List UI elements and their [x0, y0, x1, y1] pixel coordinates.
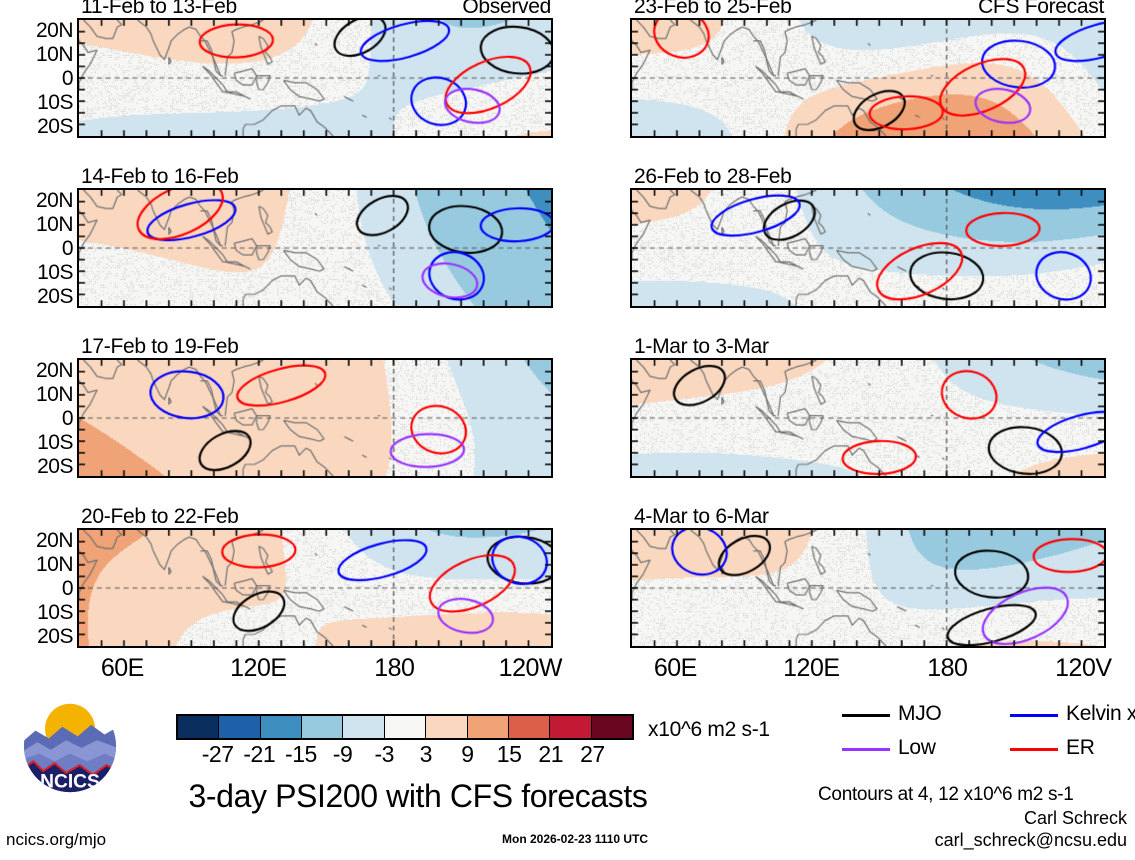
colorbar-swatch-3: [302, 716, 343, 738]
contour-legend: MJOKelvin x2LowER: [842, 702, 1132, 766]
map-frame: [630, 358, 1106, 478]
contour-note: Contours at 4, 12 x10^6 m2 s-1: [818, 784, 1074, 806]
x-tick-label: 180: [927, 654, 967, 683]
legend-label: MJO: [898, 702, 941, 726]
figure-footer: NCICS -27-21-15-9-339152127 x10^6 m2 s-1…: [0, 690, 1135, 860]
y-axis-labels: 20N10N010S20S: [15, 518, 73, 658]
main-title: 3-day PSI200 with CFS forecasts: [168, 778, 668, 815]
map-field-canvas: [79, 530, 551, 646]
map-field-canvas: [632, 530, 1104, 646]
colorbar-swatch-6: [426, 716, 467, 738]
site-url[interactable]: ncics.org/mjo: [6, 830, 106, 850]
panel-column-header: Observed: [462, 0, 551, 19]
y-tick-label: 20S: [37, 456, 73, 477]
y-tick-label: 0: [62, 68, 73, 89]
map-field-canvas: [632, 360, 1104, 476]
panel-column-header: CFS Forecast: [978, 0, 1104, 19]
map-frame: [630, 528, 1106, 648]
x-tick-label: 180: [374, 654, 414, 683]
map-frame: [77, 18, 553, 138]
colorbar-swatch-5: [385, 716, 426, 738]
ncics-logo: NCICS: [22, 698, 118, 794]
panel-title: 17-Feb to 19-Feb: [81, 335, 238, 359]
y-tick-label: 20S: [37, 116, 73, 137]
legend-line-swatch: [1010, 714, 1058, 717]
y-tick-label: 20N: [36, 20, 73, 41]
y-tick-label: 20N: [36, 360, 73, 381]
map-field-canvas: [79, 190, 551, 306]
map-panel-5: 23-Feb to 25-FebCFS Forecast: [630, 18, 1106, 138]
colorbar-tick-label: 27: [580, 741, 605, 768]
y-axis-labels: 20N10N010S20S: [15, 348, 73, 488]
y-tick-label: 0: [62, 578, 73, 599]
panel-title: 26-Feb to 28-Feb: [634, 165, 791, 189]
panel-title: 4-Mar to 6-Mar: [634, 505, 769, 529]
x-tick-label: 60E: [101, 654, 144, 683]
y-axis-labels: 20N10N010S20S: [15, 8, 73, 148]
map-frame: [77, 528, 553, 648]
colorbar-swatch-0: [178, 716, 219, 738]
y-tick-label: 10S: [37, 602, 73, 623]
author-name: Carl Schreck: [1024, 808, 1127, 829]
colorbar-swatch-10: [592, 716, 632, 738]
colorbar-tick-label: -3: [374, 741, 393, 768]
x-axis-labels: 60E120E180120V: [630, 654, 1106, 684]
map-field-canvas: [632, 20, 1104, 136]
map-panel-1: 11-Feb to 13-FebObserved20N10N010S20S: [77, 18, 553, 138]
map-field-canvas: [79, 20, 551, 136]
x-tick-label: 120V: [1055, 654, 1111, 683]
panel-title: 1-Mar to 3-Mar: [634, 335, 769, 359]
panel-title: 23-Feb to 25-Feb: [634, 0, 791, 19]
map-frame: [630, 188, 1106, 308]
y-tick-label: 10N: [36, 554, 73, 575]
colorbar-tick-labels: -27-21-15-9-339152127: [176, 741, 634, 767]
colorbar-tick-label: 15: [497, 741, 522, 768]
map-panel-2: 14-Feb to 16-Feb20N10N010S20S: [77, 188, 553, 308]
y-tick-label: 20S: [37, 626, 73, 647]
colorbar: -27-21-15-9-339152127: [176, 714, 634, 740]
map-frame: [77, 188, 553, 308]
author-email: carl_schreck@ncsu.edu: [935, 830, 1127, 851]
map-panel-4: 20-Feb to 22-Feb20N10N010S20S60E120E1801…: [77, 528, 553, 648]
colorbar-swatch-2: [261, 716, 302, 738]
legend-label: Low: [898, 736, 936, 760]
map-panel-6: 26-Feb to 28-Feb: [630, 188, 1106, 308]
panel-grid: 11-Feb to 13-FebObserved20N10N010S20S14-…: [0, 0, 1135, 690]
y-tick-label: 10N: [36, 44, 73, 65]
x-tick-label: 120E: [230, 654, 286, 683]
colorbar-swatches: [176, 714, 634, 740]
y-tick-label: 10S: [37, 432, 73, 453]
panel-title: 11-Feb to 13-Feb: [81, 0, 237, 19]
x-tick-label: 60E: [654, 654, 697, 683]
colorbar-tick-label: 3: [420, 741, 432, 768]
legend-line-swatch: [1010, 748, 1058, 751]
colorbar-swatch-1: [219, 716, 260, 738]
y-tick-label: 10N: [36, 384, 73, 405]
colorbar-swatch-4: [343, 716, 384, 738]
y-tick-label: 0: [62, 238, 73, 259]
x-axis-labels: 60E120E180120W: [77, 654, 553, 684]
colorbar-tick-label: 9: [461, 741, 473, 768]
colorbar-tick-label: -15: [285, 741, 317, 768]
y-tick-label: 10S: [37, 92, 73, 113]
colorbar-units-label: x10^6 m2 s-1: [648, 718, 770, 742]
y-tick-label: 10N: [36, 214, 73, 235]
colorbar-swatch-7: [468, 716, 509, 738]
map-frame: [630, 18, 1106, 138]
timestamp: Mon 2026-02-23 1110 UTC: [502, 832, 648, 846]
colorbar-swatch-8: [509, 716, 550, 738]
y-tick-label: 20S: [37, 286, 73, 307]
ncics-logo-text: NCICS: [40, 771, 100, 792]
y-tick-label: 10S: [37, 262, 73, 283]
map-frame: [77, 358, 553, 478]
colorbar-tick-label: -9: [333, 741, 352, 768]
y-tick-label: 20N: [36, 530, 73, 551]
panel-title: 20-Feb to 22-Feb: [81, 505, 238, 529]
panel-title: 14-Feb to 16-Feb: [81, 165, 238, 189]
map-field-canvas: [632, 190, 1104, 306]
map-panel-8: 4-Mar to 6-Mar60E120E180120V: [630, 528, 1106, 648]
map-field-canvas: [79, 360, 551, 476]
y-tick-label: 0: [62, 408, 73, 429]
legend-label: Kelvin x2: [1066, 702, 1135, 726]
legend-line-swatch: [842, 748, 890, 751]
colorbar-tick-label: 21: [538, 741, 563, 768]
legend-line-swatch: [842, 714, 890, 717]
x-tick-label: 120W: [499, 654, 562, 683]
colorbar-tick-label: -27: [202, 741, 234, 768]
x-tick-label: 120E: [783, 654, 839, 683]
y-tick-label: 20N: [36, 190, 73, 211]
map-panel-3: 17-Feb to 19-Feb20N10N010S20S: [77, 358, 553, 478]
map-panel-7: 1-Mar to 3-Mar: [630, 358, 1106, 478]
colorbar-swatch-9: [550, 716, 591, 738]
y-axis-labels: 20N10N010S20S: [15, 178, 73, 318]
colorbar-tick-label: -21: [243, 741, 275, 768]
legend-label: ER: [1066, 736, 1095, 760]
